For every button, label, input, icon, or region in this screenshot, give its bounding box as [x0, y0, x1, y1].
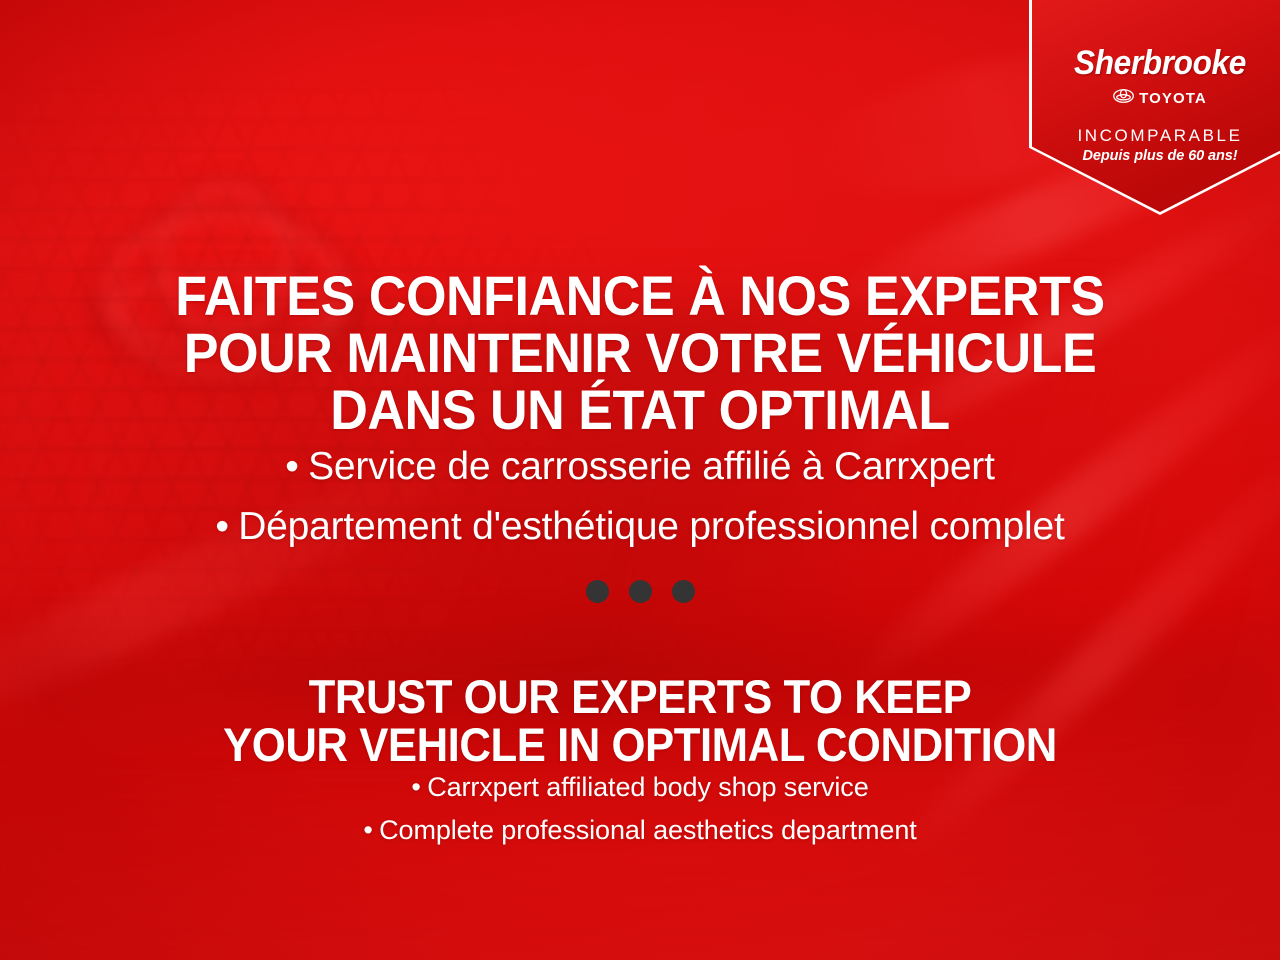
list-item-label: Service de carrosserie affilié à Carrxpe… — [308, 445, 995, 488]
bullet-marker: • — [363, 815, 372, 845]
headline-english-line-2: YOUR VEHICLE IN OPTIMAL CONDITION — [45, 721, 1235, 769]
bullet-list-french: •Service de carrosserie affilié à Carrxp… — [0, 437, 1280, 558]
list-item-label: Département d'esthétique professionnel c… — [238, 505, 1064, 548]
promo-banner: Sherbrooke TOYOTA INCOMPARABLE Depuis pl… — [0, 0, 1280, 960]
list-item: •Département d'esthétique professionnel … — [0, 497, 1280, 557]
headline-french-line-1: FAITES CONFIANCE À NOS EXPERTS — [45, 267, 1235, 324]
list-item: •Carrxpert affiliated body shop service — [0, 766, 1280, 809]
bullet-marker: • — [285, 445, 298, 488]
banner-content: FAITES CONFIANCE À NOS EXPERTS POUR MAIN… — [0, 0, 1280, 960]
bullet-marker: • — [411, 772, 420, 802]
headline-english: TRUST OUR EXPERTS TO KEEP YOUR VEHICLE I… — [45, 673, 1235, 769]
divider-dot — [672, 580, 695, 603]
bullet-marker: • — [215, 505, 228, 548]
bullet-list-english: •Carrxpert affiliated body shop service … — [0, 766, 1280, 851]
headline-french-line-2: POUR MAINTENIR VOTRE VÉHICULE — [45, 324, 1235, 381]
list-item-label: Carrxpert affiliated body shop service — [427, 772, 868, 802]
divider-dot — [629, 580, 652, 603]
list-item: •Complete professional aesthetics depart… — [0, 809, 1280, 852]
list-item-label: Complete professional aesthetics departm… — [379, 815, 917, 845]
divider-dot — [586, 580, 609, 603]
headline-french-line-3: DANS UN ÉTAT OPTIMAL — [45, 381, 1235, 438]
dot-divider — [0, 580, 1280, 603]
headline-french: FAITES CONFIANCE À NOS EXPERTS POUR MAIN… — [45, 267, 1235, 438]
headline-english-line-1: TRUST OUR EXPERTS TO KEEP — [45, 673, 1235, 721]
list-item: •Service de carrosserie affilié à Carrxp… — [0, 437, 1280, 497]
